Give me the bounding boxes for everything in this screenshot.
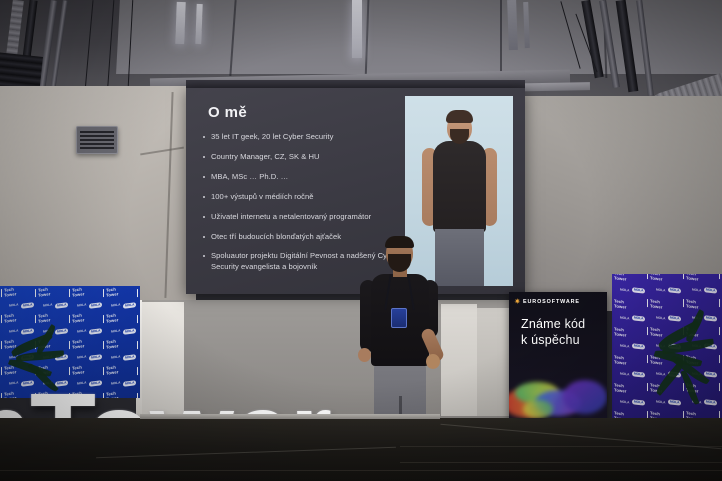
sponsor-logo-pill: MOLA [668,315,681,321]
sponsor-word: MOLA [9,328,18,333]
sponsor-logo-pill: MOLA [668,371,681,377]
rollup-headline: Známe kód k úspěchu [521,316,585,348]
sponsor-word: MOLA [692,288,701,293]
sponsor-word: MOLA [9,354,18,359]
rollup-abstract-artwork [509,374,607,422]
tech-tower-logo: TechTower [106,339,119,350]
sponsor-logo-pill: MOLA [704,371,717,377]
tech-tower-logo: TechTower [614,327,627,338]
sponsor-word: MOLA [656,400,665,405]
rollup-headline-line1: Známe kód [521,316,585,332]
sponsor-logo-pill: MOLA [21,302,34,308]
sponsor-word: MOLA [43,354,52,359]
tech-tower-logo: TechTower [38,287,51,298]
tech-tower-logo: TechTower [72,339,85,350]
conference-stage-photo: O mě 35 let IT geek, 20 let Cyber Securi… [0,0,722,481]
sponsor-word: MOLA [43,302,52,307]
list-item: Country Manager, CZ, SK & HU [200,152,400,162]
eurosoftware-logo-text: EUROSOFTWARE [523,299,580,305]
sponsor-logo-pill: MOLA [123,328,136,334]
sponsor-word: MOLA [620,372,629,377]
sponsor-logo-pill: MOLA [632,343,645,349]
tech-tower-logo: TechTower [686,383,699,394]
tech-tower-logo: TechTower [72,313,85,324]
sponsor-logo-pill: MOLA [89,328,102,334]
tech-tower-logo: TechTower [4,287,17,298]
sponsor-logo-pill: MOLA [668,287,681,293]
sponsor-word: MOLA [656,372,665,377]
sponsor-word: MOLA [9,302,18,307]
slide-title: O mě [208,104,247,121]
photo-torso [433,141,486,233]
tech-tower-logo: TechTower [4,339,17,350]
sponsor-word: MOLA [77,302,86,307]
sponsor-logo-pill: MOLA [704,343,717,349]
sponsor-word: MOLA [656,344,665,349]
sponsor-word: MOLA [620,344,629,349]
sponsor-logo-pill: MOLA [55,354,68,360]
sponsor-word: MOLA [111,328,120,333]
tech-tower-logo: TechTower [38,313,51,324]
tech-tower-logo: TechTower [686,299,699,310]
sponsor-logo-pill: MOLA [704,315,717,321]
eurosoftware-rollup-banner: ✷ EUROSOFTWARE Známe kód k úspěchu [509,292,607,422]
speaker-hand [426,354,440,369]
sponsor-word: MOLA [620,288,629,293]
tech-tower-logo: TechTower [686,274,699,282]
ceiling-seam [500,0,502,82]
sponsor-logo-pill: MOLA [89,354,102,360]
strip-light [507,0,518,50]
sponsor-word: MOLA [111,354,120,359]
tech-tower-logo: TechTower [72,287,85,298]
dark-wood-floor [0,418,722,481]
sponsor-logo-pill: MOLA [123,302,136,308]
sponsor-word: MOLA [656,288,665,293]
sponsor-logo-pill: MOLA [704,399,717,405]
tech-tower-logo: TechTower [38,339,51,350]
sponsor-word: MOLA [692,372,701,377]
tech-tower-logo: TechTower [106,313,119,324]
tech-tower-logo: TechTower [4,313,17,324]
sponsor-word: MOLA [43,328,52,333]
tech-tower-logo: TechTower [650,274,663,282]
sponsor-logo-pill: MOLA [89,302,102,308]
sponsor-logo-pill: MOLA [632,315,645,321]
speaker-hand [358,348,371,362]
photo-hair [446,110,473,123]
floor-plank-seam [400,446,722,447]
tech-tower-logo: TechTower [686,355,699,366]
sponsor-logo-pill: MOLA [55,302,68,308]
sponsor-word: MOLA [692,344,701,349]
sponsor-logo-pill: MOLA [632,371,645,377]
list-item: Uživatel internetu a netalentovaný progr… [200,212,400,222]
sponsor-word: MOLA [692,316,701,321]
tech-tower-logo: TechTower [650,327,663,338]
speaker-hair [385,236,414,248]
tech-tower-logo: TechTower [614,299,627,310]
tech-tower-logo: TechTower [650,299,663,310]
list-item: MBA, MSc … Ph.D. … [200,172,400,182]
tech-tower-logo: TechTower [650,383,663,394]
sponsor-logo-pill: MOLA [632,399,645,405]
sponsor-logo-pill: MOLA [668,343,681,349]
sponsor-word: MOLA [111,302,120,307]
tech-tower-logo: TechTower [650,355,663,366]
tech-tower-logo: TechTower [686,327,699,338]
sponsor-word: MOLA [656,316,665,321]
floor-plank-seam [0,470,722,471]
tech-tower-logo: TechTower [614,355,627,366]
list-item: 35 let IT geek, 20 let Cyber Security [200,132,400,142]
booth-panel [477,308,509,416]
sponsor-word: MOLA [620,316,629,321]
wall-vent-unit [76,126,118,154]
sponsor-logo-pill: MOLA [632,287,645,293]
list-item: 100+ výstupů v médiích ročně [200,192,400,202]
sponsor-logo-pill: MOLA [21,354,34,360]
sponsor-word: MOLA [77,354,86,359]
sponsor-logo-pill: MOLA [55,328,68,334]
tech-tower-logo: TechTower [614,383,627,394]
stage-edge-trim [140,414,440,419]
sponsor-logo-pill: MOLA [704,287,717,293]
speaker-beard [388,254,411,272]
rollup-headline-line2: k úspěchu [521,332,585,348]
strip-light [352,0,362,58]
sponsor-logo-pill: MOLA [21,328,34,334]
strip-light [175,2,185,44]
floor-plank-seam [400,462,722,463]
sponsor-logo-pill: MOLA [668,399,681,405]
sponsor-backdrop-right: TechTowerTechTowerTechTowerTechTowerTech… [612,274,722,442]
conference-badge [391,308,407,328]
tech-tower-logo: TechTower [106,287,119,298]
tech-tower-logo: TechTower [614,274,627,282]
sponsor-logo-pill: MOLA [123,354,136,360]
asterisk-star-icon: ✷ [514,298,521,305]
sponsor-word: MOLA [692,400,701,405]
sponsor-word: MOLA [620,400,629,405]
sponsor-word: MOLA [77,328,86,333]
